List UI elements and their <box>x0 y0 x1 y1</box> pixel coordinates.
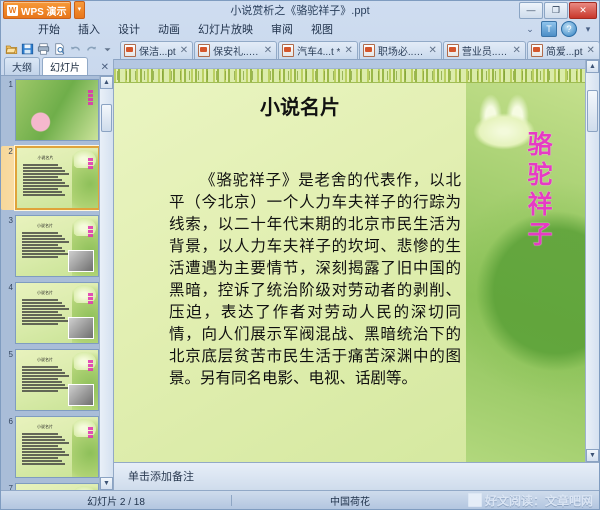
customize-qat-icon[interactable] <box>100 42 115 57</box>
slide-number: 3 <box>2 215 13 225</box>
slide-thumbnail[interactable]: 小说名片 <box>15 215 99 277</box>
slide-number: 1 <box>2 79 13 89</box>
document-tab-label: 保洁...pt <box>139 43 176 58</box>
slide-editor: 小说名片 《骆驼祥子》是老舍的代表作，以北平（今北京）一个人力车夫祥子的行踪为线… <box>114 59 599 490</box>
menu-item-slideshow[interactable]: 幻灯片放映 <box>189 19 262 39</box>
title-bar: W WPS 演示 ▾ 小说赏析之《骆驼祥子》.ppt — ❐ ✕ <box>1 1 599 19</box>
slide-thumbnail-item[interactable]: 4小说名片 <box>1 282 100 344</box>
slide-thumbnail[interactable] <box>15 79 99 141</box>
open-icon[interactable] <box>4 42 19 57</box>
watermark: 好文阅读：文章吧网 <box>468 492 593 509</box>
close-tab-icon[interactable]: ✕ <box>428 45 436 56</box>
slide-body-text[interactable]: 《骆驼祥子》是老舍的代表作，以北平（今北京）一个人力车夫祥子的行踪为线索，以二十… <box>169 169 461 389</box>
menu-item-design[interactable]: 设计 <box>109 19 149 39</box>
watermark-icon <box>468 493 482 507</box>
document-tab[interactable]: 保洁...pt✕ <box>120 41 193 59</box>
slide-thumbnail-list: 12小说名片3小说名片4小说名片5小说名片6小说名片7小说名片 ▲ ▼ <box>1 75 113 490</box>
document-tab[interactable]: 简爱...pt✕ <box>527 41 600 59</box>
scroll-down-icon[interactable]: ▼ <box>100 477 113 490</box>
document-tab-label: 汽车4...t * <box>297 43 340 58</box>
menu-item-animation[interactable]: 动画 <box>149 19 189 39</box>
menu-item-start[interactable]: 开始 <box>29 19 69 39</box>
slide-thumbnail-item[interactable]: 1 <box>1 79 100 141</box>
scroll-up-icon[interactable]: ▲ <box>100 76 113 89</box>
slide-thumbnail-item[interactable]: 3小说名片 <box>1 215 100 277</box>
wps-logo-icon: W <box>7 5 18 16</box>
close-tab-icon[interactable]: ✕ <box>264 45 272 56</box>
slide-scroll-up-icon[interactable]: ▲ <box>586 60 599 73</box>
document-tab-label: 简爱...pt <box>546 43 583 58</box>
lotus-background-decoration <box>466 69 586 462</box>
more-icon[interactable]: ▾ <box>581 22 595 36</box>
slide-scrollbar-thumb[interactable] <box>587 90 598 132</box>
close-tab-icon[interactable]: ✕ <box>512 45 520 56</box>
slide-thumbnail[interactable]: 小说名片 <box>15 146 100 210</box>
slide-thumbnail-item[interactable]: 7小说名片 <box>1 483 100 490</box>
minimize-button[interactable]: — <box>519 2 543 19</box>
slide-number: 6 <box>2 416 13 426</box>
ppt-file-icon <box>531 44 543 57</box>
close-pane-icon[interactable]: ✕ <box>101 62 109 73</box>
document-tab-label: 营业员...t * <box>462 43 509 58</box>
slide-vertical-scrollbar[interactable]: ▲ ▼ <box>585 60 599 462</box>
help-icon[interactable]: ? <box>561 21 577 37</box>
close-tab-icon[interactable]: ✕ <box>587 45 595 56</box>
document-tab[interactable]: 营业员...t *✕ <box>443 41 526 59</box>
undo-icon[interactable] <box>68 42 83 57</box>
app-menu-caret-icon[interactable]: ▾ <box>74 1 86 19</box>
close-tab-icon[interactable]: ✕ <box>344 45 352 56</box>
status-bar: 幻灯片 2 / 18 中国荷花 好文阅读：文章吧网 <box>1 490 599 509</box>
document-tab[interactable]: 汽车4...t *✕ <box>278 41 358 59</box>
workspace: 大纲 幻灯片 ✕ 12小说名片3小说名片4小说名片5小说名片6小说名片7小说名片… <box>1 59 599 490</box>
slide-thumbnail[interactable]: 小说名片 <box>15 416 99 478</box>
ppt-file-icon <box>363 44 375 57</box>
close-tab-icon[interactable]: ✕ <box>180 45 188 56</box>
pane-tab-strip: 大纲 幻灯片 ✕ <box>1 59 113 75</box>
document-tab-label: 职场必...t * <box>378 43 425 58</box>
watermark-text: 好文阅读：文章吧网 <box>485 492 593 509</box>
tab-outline[interactable]: 大纲 <box>4 57 40 75</box>
maximize-button[interactable]: ❐ <box>544 2 568 19</box>
slide-number: 2 <box>2 146 13 156</box>
slide-number: 4 <box>2 282 13 292</box>
close-button[interactable]: ✕ <box>569 2 597 19</box>
ppt-file-icon <box>124 44 136 57</box>
slide-canvas-area: 小说名片 《骆驼祥子》是老舍的代表作，以北平（今北京）一个人力车夫祥子的行踪为线… <box>114 59 599 462</box>
slide-scroll-down-icon[interactable]: ▼ <box>586 449 599 462</box>
menu-item-review[interactable]: 审阅 <box>262 19 302 39</box>
menu-bar: 开始 插入 设计 动画 幻灯片放映 审阅 视图 ⌄ T ? ▾ <box>1 19 599 39</box>
current-slide[interactable]: 小说名片 《骆驼祥子》是老舍的代表作，以北平（今北京）一个人力车夫祥子的行踪为线… <box>114 68 586 462</box>
slide-thumbnail[interactable]: 小说名片 <box>15 483 99 490</box>
status-slide-indicator: 幻灯片 2 / 18 <box>1 493 231 508</box>
tab-slides[interactable]: 幻灯片 <box>42 57 88 75</box>
slide-thumbnail-item[interactable]: 6小说名片 <box>1 416 100 478</box>
wps-presentation-window: W WPS 演示 ▾ 小说赏析之《骆驼祥子》.ppt — ❐ ✕ 开始 插入 设… <box>0 0 600 510</box>
document-tab[interactable]: 保安礼...t *✕ <box>194 41 277 59</box>
slide-thumbnail[interactable]: 小说名片 <box>15 282 99 344</box>
document-tab-label: 保安礼...t * <box>213 43 260 58</box>
window-title: 小说赏析之《骆驼祥子》.ppt <box>1 2 599 18</box>
app-name-label: WPS 演示 <box>21 3 67 18</box>
slide-thumbnail[interactable]: 小说名片 <box>15 349 99 411</box>
menu-right-tools: ⌄ T ? ▾ <box>523 21 595 37</box>
ppt-file-icon <box>447 44 459 57</box>
save-icon[interactable] <box>20 42 35 57</box>
menu-item-insert[interactable]: 插入 <box>69 19 109 39</box>
slide-number: 5 <box>2 349 13 359</box>
print-icon[interactable] <box>36 42 51 57</box>
wps-app-button[interactable]: W WPS 演示 <box>3 1 71 19</box>
thumbnails-scrollbar[interactable]: ▲ ▼ <box>99 76 113 490</box>
menu-item-view[interactable]: 视图 <box>302 19 342 39</box>
scrollbar-thumb[interactable] <box>101 104 112 132</box>
chevron-down-icon[interactable]: ⌄ <box>523 22 537 36</box>
document-tab-bar: 保洁...pt✕保安礼...t *✕汽车4...t *✕职场必...t *✕营业… <box>1 39 599 59</box>
slide-title[interactable]: 小说名片 <box>154 91 446 120</box>
open-document-tabs: 保洁...pt✕保安礼...t *✕汽车4...t *✕职场必...t *✕营业… <box>120 40 600 59</box>
skin-icon[interactable]: T <box>541 21 557 37</box>
ppt-file-icon <box>198 44 210 57</box>
ppt-file-icon <box>282 44 294 57</box>
document-tab[interactable]: 职场必...t *✕ <box>359 41 442 59</box>
redo-icon[interactable] <box>84 42 99 57</box>
slide-thumbnail-item[interactable]: 2小说名片 <box>1 146 100 210</box>
notes-pane[interactable]: 单击添加备注 <box>114 462 599 490</box>
slide-thumbnail-item[interactable]: 5小说名片 <box>1 349 100 411</box>
status-design-name: 中国荷花 <box>232 493 468 508</box>
slides-pane: 大纲 幻灯片 ✕ 12小说名片3小说名片4小说名片5小说名片6小说名片7小说名片… <box>1 59 114 490</box>
window-controls: — ❐ ✕ <box>519 2 597 19</box>
slide-number: 7 <box>2 483 13 490</box>
slide-vertical-title[interactable]: 骆驼祥子 <box>526 131 556 251</box>
print-preview-icon[interactable] <box>52 42 67 57</box>
greek-key-border-decoration <box>114 69 586 83</box>
